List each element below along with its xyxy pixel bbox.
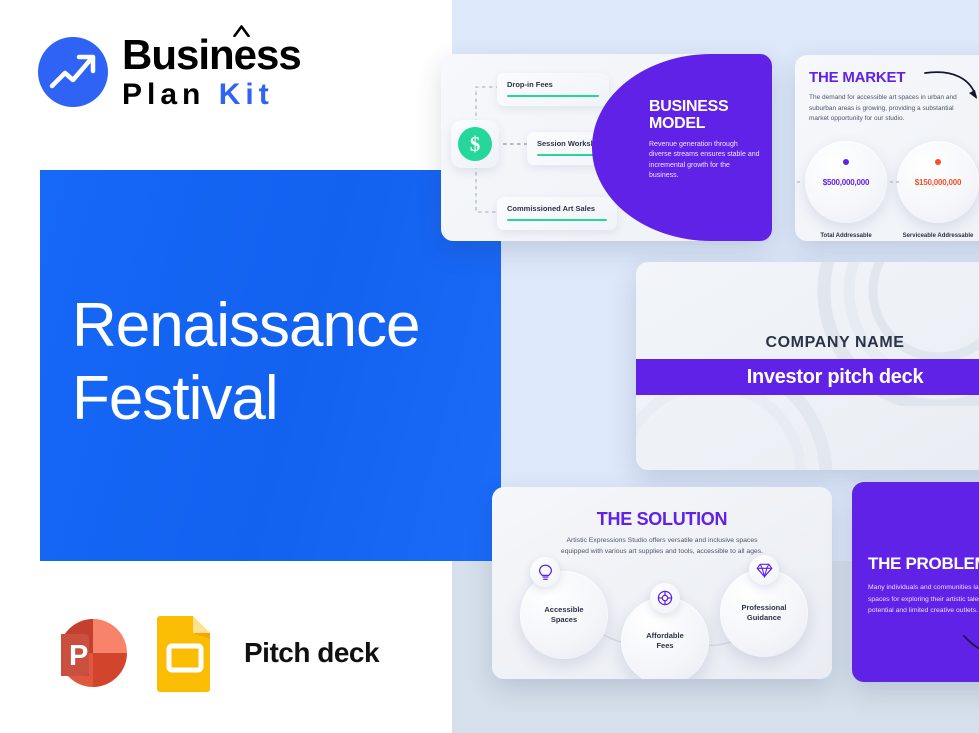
- brand-logo: Business Plan Kit: [38, 34, 301, 110]
- solution-node-2-label: Professional Guidance: [741, 603, 786, 624]
- poster-canvas: Business Plan Kit Renaissance Festival: [0, 0, 979, 733]
- market-metric-tam-caption-2: Market (TAM): [820, 240, 871, 241]
- solution-node-affordable-fees[interactable]: Affordable Fees: [621, 597, 709, 679]
- brand-wordmark: Business Plan Kit: [122, 34, 301, 110]
- cover-subtitle: Investor pitch deck: [747, 366, 924, 389]
- solution-node-1-label-2: Fees: [656, 641, 673, 650]
- slide-business-model[interactable]: $ Drop-in Fees Session Workshops Commiss…: [441, 54, 772, 241]
- problem-title: THE PROBLEM: [868, 554, 979, 574]
- business-model-item-2[interactable]: Commissioned Art Sales: [497, 197, 617, 230]
- solution-node-1-label: Affordable Fees: [646, 631, 684, 652]
- dollar-icon: $: [458, 127, 492, 161]
- dollar-icon-card: $: [451, 120, 499, 168]
- svg-text:P: P: [69, 640, 88, 672]
- market-dot-indicator: [935, 159, 941, 165]
- market-title: THE MARKET: [809, 69, 905, 86]
- solution-node-0-label-2: Spaces: [551, 615, 577, 624]
- market-metric-tam-caption-1: Total Addressable: [820, 232, 871, 240]
- cover-company-name: COMPANY NAME: [636, 334, 979, 352]
- business-model-content: BUSINESS MODEL Revenue generation throug…: [649, 98, 761, 182]
- circumflex-accent-icon: [233, 25, 250, 37]
- format-badges: P Pitch deck: [40, 607, 379, 699]
- market-metric-sam-caption-1: Serviceable Addressable: [903, 232, 974, 240]
- solution-node-2-label-1: Professional: [741, 603, 786, 612]
- powerpoint-icon: P: [40, 607, 132, 699]
- business-model-title: BUSINESS MODEL: [649, 98, 761, 133]
- business-model-title-line-1: BUSINESS: [649, 98, 761, 115]
- page-title-line-1: Renaissance: [72, 290, 492, 363]
- target-icon: [650, 583, 680, 613]
- business-model-item-2-label: Commissioned Art Sales: [507, 204, 607, 213]
- solution-node-0-label: Accessible Spaces: [544, 605, 583, 626]
- slide-problem[interactable]: THE PROBLEM Many individuals and communi…: [852, 482, 979, 682]
- brand-line-1: Business: [122, 34, 301, 76]
- diamond-icon: [749, 555, 779, 585]
- market-metric-sam[interactable]: $150,000,000 Serviceable Addressable Mar…: [897, 141, 979, 241]
- brand-kit-text: Kit: [219, 78, 274, 111]
- format-badge-label: Pitch deck: [244, 637, 379, 669]
- underline-accent: [507, 219, 607, 221]
- market-metric-sam-caption: Serviceable Addressable Market (SAM): [903, 232, 974, 241]
- cover-subtitle-band: Investor pitch deck: [636, 359, 979, 395]
- market-metric-sam-value: $150,000,000: [915, 178, 962, 187]
- solution-node-professional-guidance[interactable]: Professional Guidance: [720, 569, 808, 657]
- solution-node-1-label-1: Affordable: [646, 631, 684, 640]
- brand-line-2: Plan Kit: [122, 80, 301, 110]
- slide-cover[interactable]: COMPANY NAME Investor pitch deck: [636, 262, 979, 470]
- market-metric-tam-disc: $500,000,000: [805, 141, 887, 223]
- business-model-item-0[interactable]: Drop-in Fees: [497, 73, 609, 106]
- solution-node-accessible-spaces[interactable]: Accessible Spaces: [520, 571, 608, 659]
- business-model-title-line-2: MODEL: [649, 115, 761, 132]
- solution-node-accessible-spaces-disc: Accessible Spaces: [520, 571, 608, 659]
- market-metric-tam-caption: Total Addressable Market (TAM): [820, 232, 871, 241]
- business-model-item-0-label: Drop-in Fees: [507, 80, 599, 89]
- market-dot-indicator: [843, 159, 849, 165]
- growth-arrow-icon: [38, 37, 108, 107]
- page-title-line-2: Festival: [72, 363, 492, 436]
- solution-node-0-label-1: Accessible: [544, 605, 583, 614]
- slide-solution[interactable]: THE SOLUTION Artistic Expressions Studio…: [492, 487, 832, 679]
- market-metric-tam-value: $500,000,000: [823, 178, 870, 187]
- problem-description: Many individuals and communities lack ac…: [868, 582, 979, 617]
- brand-plan-text: Plan: [122, 78, 205, 111]
- brand-business-text: Business: [122, 31, 301, 78]
- market-description: The demand for accessible art spaces in …: [809, 93, 964, 125]
- curved-line-decor-icon: [962, 632, 979, 668]
- market-metric-tam[interactable]: $500,000,000 Total Addressable Market (T…: [805, 141, 887, 241]
- page-title: Renaissance Festival: [72, 290, 492, 435]
- google-slides-icon: [154, 613, 216, 693]
- slide-market[interactable]: THE MARKET The demand for accessible art…: [795, 55, 979, 241]
- business-model-description: Revenue generation through diverse strea…: [649, 140, 761, 182]
- market-metrics: $500,000,000 Total Addressable Market (T…: [805, 141, 979, 241]
- market-metric-sam-disc: $150,000,000: [897, 141, 979, 223]
- solution-node-2-label-2: Guidance: [747, 613, 781, 622]
- lightbulb-icon: [530, 557, 560, 587]
- market-metric-sam-caption-2: Market (SAM): [903, 240, 974, 241]
- underline-accent: [507, 95, 599, 97]
